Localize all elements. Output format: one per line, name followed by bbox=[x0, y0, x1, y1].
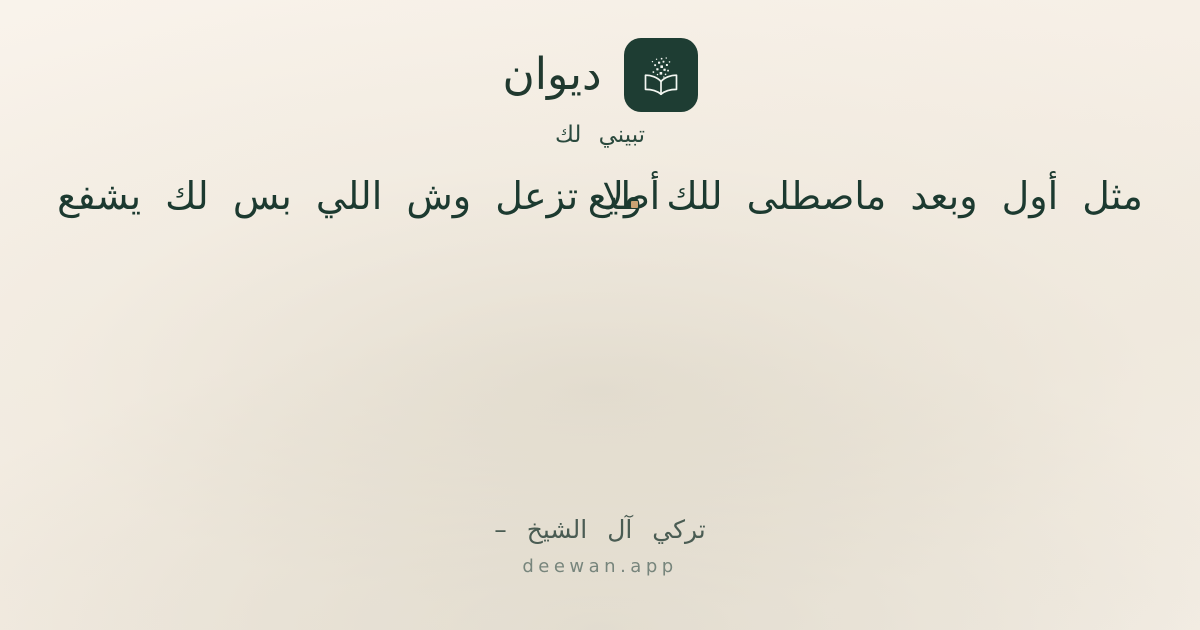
app-title: ديوان bbox=[502, 53, 601, 97]
footer-url: deewan.app bbox=[0, 556, 1200, 577]
brand-header: ديوان bbox=[0, 38, 1200, 112]
poem-subtitle: تبيني لك bbox=[0, 122, 1200, 148]
verse-line: مثل أول وبعد ماصطلى للك ولا تزعل وش اللي… bbox=[0, 163, 1200, 229]
app-logo-badge bbox=[624, 38, 698, 112]
verse-block: مثل أول وبعد ماصطلى للك ولا تزعل وش اللي… bbox=[0, 163, 1200, 229]
accent-dot bbox=[631, 201, 638, 208]
open-book-with-sparkles-icon bbox=[637, 51, 685, 99]
poet-attribution: تركي آل الشيخ – bbox=[0, 515, 1200, 544]
share-card: ديوان تبيني لك مثل أول وبعد ماصطلى للك و… bbox=[0, 0, 1200, 630]
